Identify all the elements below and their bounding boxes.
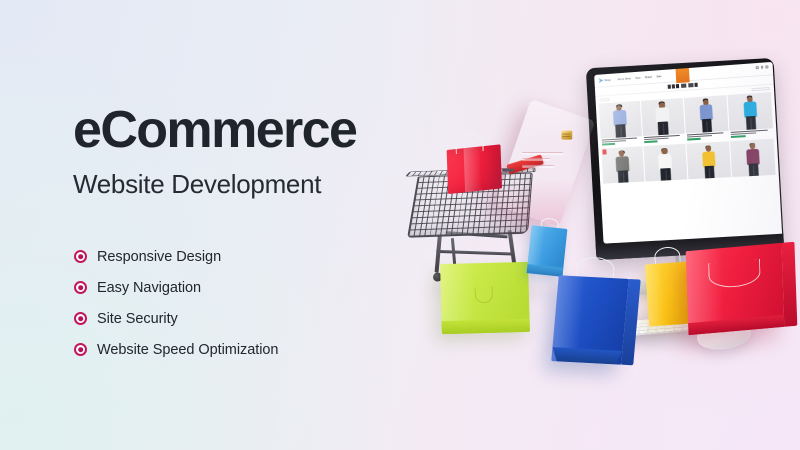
ecommerce-banner: eCommerce Website Development Responsive…	[0, 0, 800, 450]
headline-block: eCommerce Website Development	[73, 104, 403, 199]
list-item: Website Speed Optimization	[74, 341, 394, 358]
product-card[interactable]	[599, 101, 642, 146]
menu-item[interactable]: New	[635, 76, 640, 79]
feature-label: Website Speed Optimization	[97, 342, 278, 358]
red-bag-in-cart	[447, 144, 502, 194]
ecommerce-website: Shop Men's Wear New Brand Sale	[594, 62, 782, 244]
heading-glyph	[676, 84, 679, 88]
site-nav-icons[interactable]	[756, 65, 769, 69]
product-card[interactable]	[641, 98, 685, 144]
product-image	[641, 98, 684, 136]
heading-glyph	[668, 85, 671, 89]
promo-banner	[675, 68, 689, 83]
ecommerce-3d-scene: Shop Men's Wear New Brand Sale	[395, 45, 800, 405]
search-icon[interactable]	[756, 66, 759, 69]
blue-shopping-bag	[551, 275, 628, 364]
model-tshirt	[702, 151, 716, 167]
model-tshirt	[699, 104, 713, 120]
card-number	[522, 152, 574, 168]
site-logo-text: Shop	[604, 78, 610, 81]
bullet-dot-icon	[74, 250, 87, 263]
site-menu[interactable]: Men's Wear New Brand Sale	[617, 75, 661, 81]
list-item: Responsive Design	[74, 248, 394, 265]
product-image	[684, 95, 728, 133]
red-shopping-bag	[686, 243, 785, 335]
product-card[interactable]	[728, 92, 773, 139]
model-trousers	[658, 122, 668, 135]
filter-chip[interactable]	[599, 97, 609, 101]
product-card[interactable]	[687, 142, 731, 180]
feature-label: Easy Navigation	[97, 280, 201, 296]
heading-glyph	[688, 83, 693, 87]
credit-card	[495, 99, 596, 227]
sale-tag	[602, 150, 606, 155]
user-icon[interactable]	[761, 66, 764, 69]
menu-item[interactable]: Brand	[645, 75, 652, 79]
product-image	[644, 144, 687, 182]
site-logo[interactable]: Shop	[598, 77, 610, 83]
model-tshirt	[658, 153, 672, 169]
product-price	[687, 138, 701, 141]
heading-glyph	[672, 85, 675, 89]
card-chip-icon	[561, 131, 572, 140]
product-image	[728, 92, 773, 131]
product-card[interactable]	[644, 144, 687, 182]
cart-frame-bar	[436, 250, 514, 256]
bullet-dot-icon	[74, 281, 87, 294]
page-title: eCommerce	[73, 104, 403, 156]
product-image	[731, 139, 776, 177]
list-item: Easy Navigation	[74, 279, 394, 296]
model-trousers	[618, 170, 628, 183]
model-trousers	[704, 166, 715, 179]
product-image	[599, 101, 642, 139]
model-trousers	[701, 119, 712, 132]
model-trousers	[661, 168, 671, 181]
list-item: Site Security	[74, 310, 394, 327]
product-price	[602, 143, 615, 146]
feature-list: Responsive Design Easy Navigation Site S…	[74, 248, 394, 372]
feature-label: Site Security	[97, 311, 178, 327]
heading-glyph	[681, 84, 686, 88]
model-trousers	[748, 163, 759, 176]
menu-item[interactable]: Men's Wear	[617, 77, 630, 81]
product-image	[601, 147, 644, 184]
lightblue-shopping-bag	[527, 225, 568, 277]
product-image	[687, 142, 731, 180]
product-price	[644, 141, 657, 144]
logo-mark-icon	[598, 78, 603, 83]
product-price	[731, 136, 745, 139]
product-card[interactable]	[731, 139, 776, 177]
product-card[interactable]	[601, 147, 644, 184]
bag-gusset	[442, 319, 530, 334]
desktop-monitor: Shop Men's Wear New Brand Sale	[586, 58, 784, 260]
page-subtitle: Website Development	[73, 170, 403, 199]
product-card[interactable]	[684, 95, 729, 141]
bullet-dot-icon	[74, 312, 87, 325]
model-trousers	[746, 116, 757, 129]
heading-glyph	[695, 83, 698, 87]
bullet-dot-icon	[74, 343, 87, 356]
feature-label: Responsive Design	[97, 249, 221, 265]
cart-icon[interactable]	[766, 65, 769, 68]
model-trousers	[616, 124, 626, 137]
menu-item[interactable]: Sale	[656, 75, 661, 78]
monitor-screen: Shop Men's Wear New Brand Sale	[594, 62, 782, 244]
green-shopping-bag	[440, 262, 530, 334]
